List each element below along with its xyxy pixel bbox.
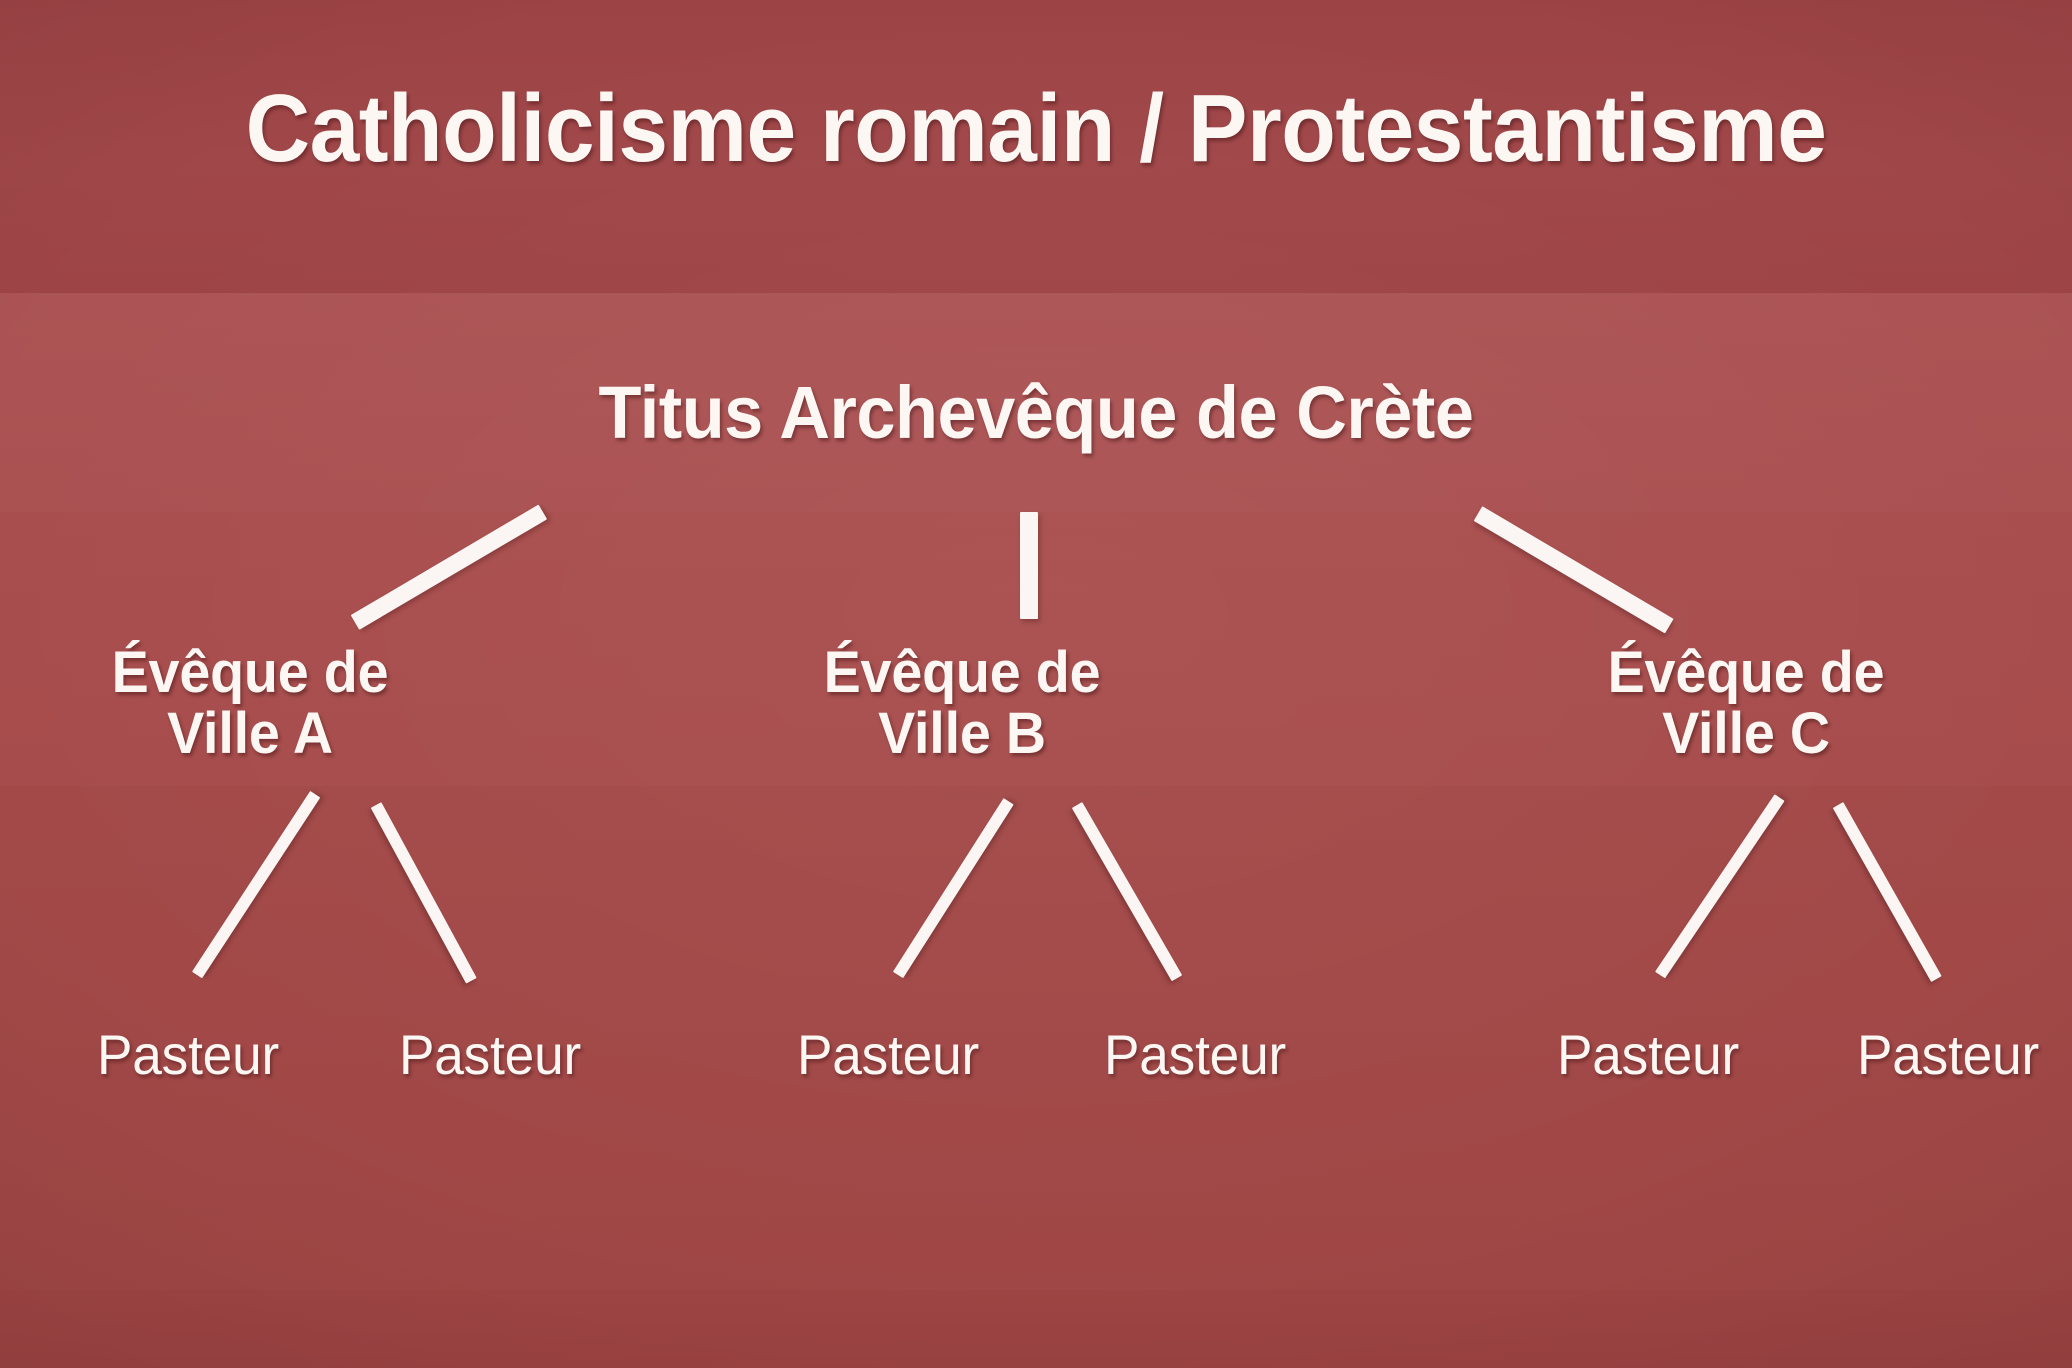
node-pastor-c2: Pasteur <box>1787 1025 2072 1084</box>
node-pastor-c1: Pasteur <box>1487 1025 1810 1084</box>
node-pastor-b2: Pasteur <box>1034 1025 1357 1084</box>
presentation-slide: Catholicisme romain / Protestantisme Tit… <box>0 0 2072 1368</box>
edge-bishop-c-to-pastor-2 <box>1833 802 1942 982</box>
background-band-bottom <box>0 1290 2072 1368</box>
node-bishop-ville-c: Évêque de Ville C <box>1544 642 1947 765</box>
node-archbishop: Titus Archevêque de Crète <box>371 374 1701 452</box>
edge-bishop-c-to-pastor-1 <box>1655 794 1785 978</box>
node-bishop-ville-a: Évêque de Ville A <box>48 642 451 765</box>
edge-archbishop-to-bishop-c <box>1474 506 1674 633</box>
node-pastor-a1: Pasteur <box>27 1025 350 1084</box>
node-bishop-ville-b: Évêque de Ville B <box>760 642 1163 765</box>
slide-title: Catholicisme romain / Protestantisme <box>73 78 2000 180</box>
node-pastor-a2: Pasteur <box>329 1025 652 1084</box>
node-pastor-b1: Pasteur <box>727 1025 1050 1084</box>
edge-bishop-b-to-pastor-1 <box>893 798 1014 978</box>
edge-bishop-b-to-pastor-2 <box>1072 802 1182 981</box>
edge-bishop-a-to-pastor-1 <box>192 791 320 978</box>
edge-archbishop-to-bishop-b <box>1020 512 1038 619</box>
edge-archbishop-to-bishop-a <box>351 505 547 630</box>
edge-bishop-a-to-pastor-2 <box>371 802 477 983</box>
